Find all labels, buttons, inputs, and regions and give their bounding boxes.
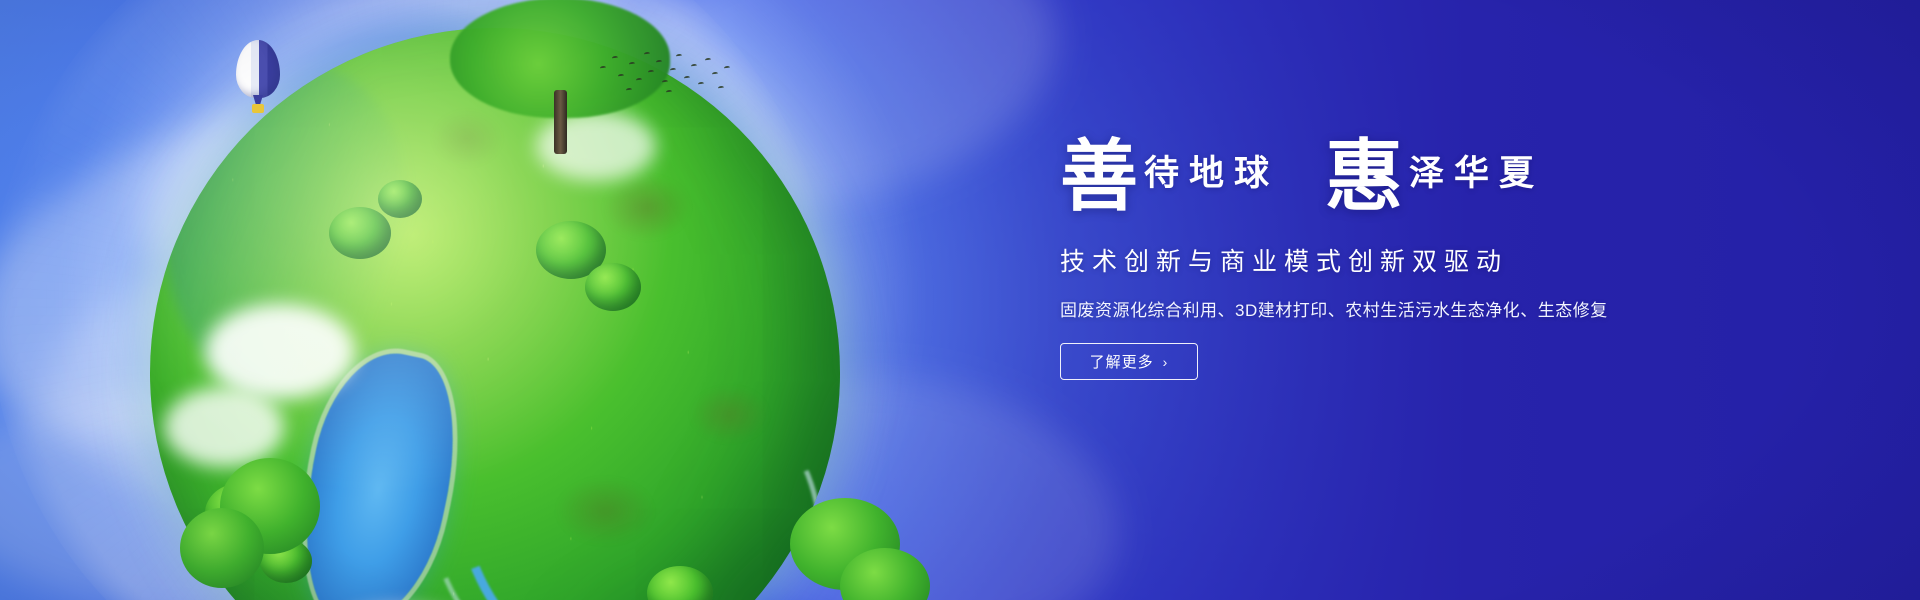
- headline-kai-text-1: 待地球: [1144, 153, 1279, 194]
- page-title: 善待地球惠泽华夏: [1060, 138, 1760, 230]
- hero-subtitle: 技术创新与商业模式创新双驱动: [1060, 242, 1760, 278]
- chevron-right-icon: ›: [1163, 354, 1169, 370]
- learn-more-button[interactable]: 了解更多 ›: [1060, 343, 1198, 380]
- hero-copy: 善待地球惠泽华夏 技术创新与商业模式创新双驱动 固废资源化综合利用、3D建材打印…: [1060, 138, 1760, 380]
- headline-brush-char-2: 惠: [1325, 131, 1403, 222]
- headline-brush-char-1: 善: [1060, 131, 1138, 222]
- hero-description: 固废资源化综合利用、3D建材打印、农村生活污水生态净化、生态修复: [1060, 296, 1760, 321]
- hero-banner: 善待地球惠泽华夏 技术创新与商业模式创新双驱动 固废资源化综合利用、3D建材打印…: [0, 0, 1920, 600]
- headline-kai-text-2: 泽华夏: [1409, 153, 1544, 194]
- learn-more-label: 了解更多: [1090, 351, 1154, 372]
